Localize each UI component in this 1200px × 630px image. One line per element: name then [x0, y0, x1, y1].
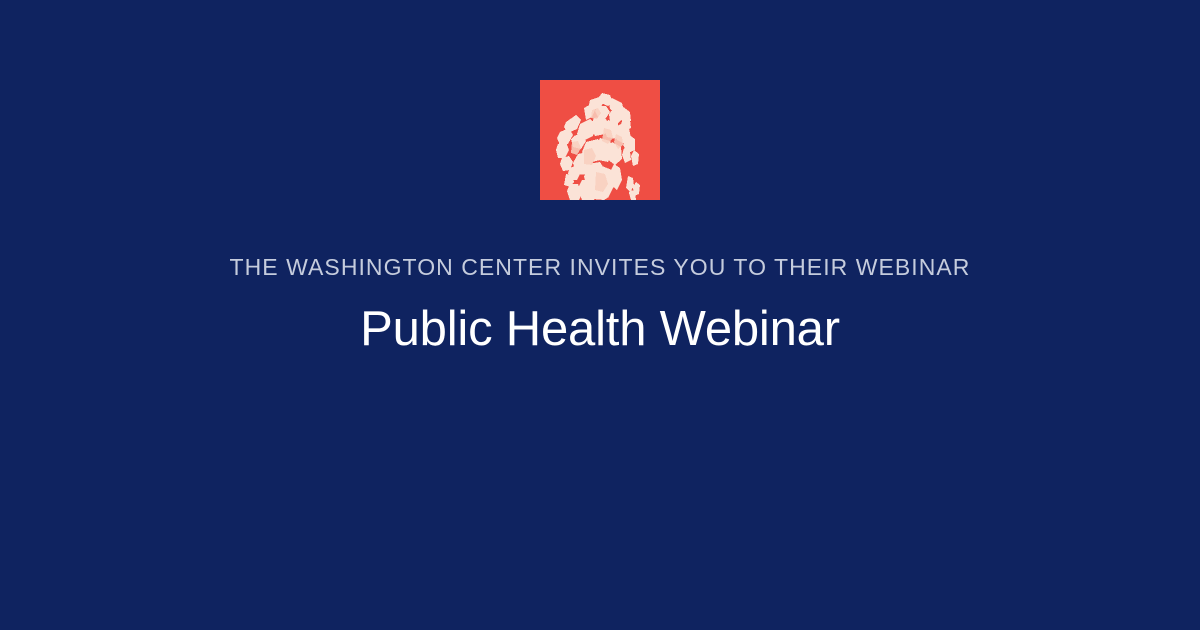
event-invitation-card: THE WASHINGTON CENTER INVITES YOU TO THE… [0, 0, 1200, 630]
washington-center-monument-logo [540, 80, 660, 200]
page-title: Public Health Webinar [0, 300, 1200, 358]
monument-statue-icon [540, 80, 660, 200]
event-text-block: THE WASHINGTON CENTER INVITES YOU TO THE… [0, 252, 1200, 358]
event-kicker: THE WASHINGTON CENTER INVITES YOU TO THE… [0, 252, 1200, 282]
